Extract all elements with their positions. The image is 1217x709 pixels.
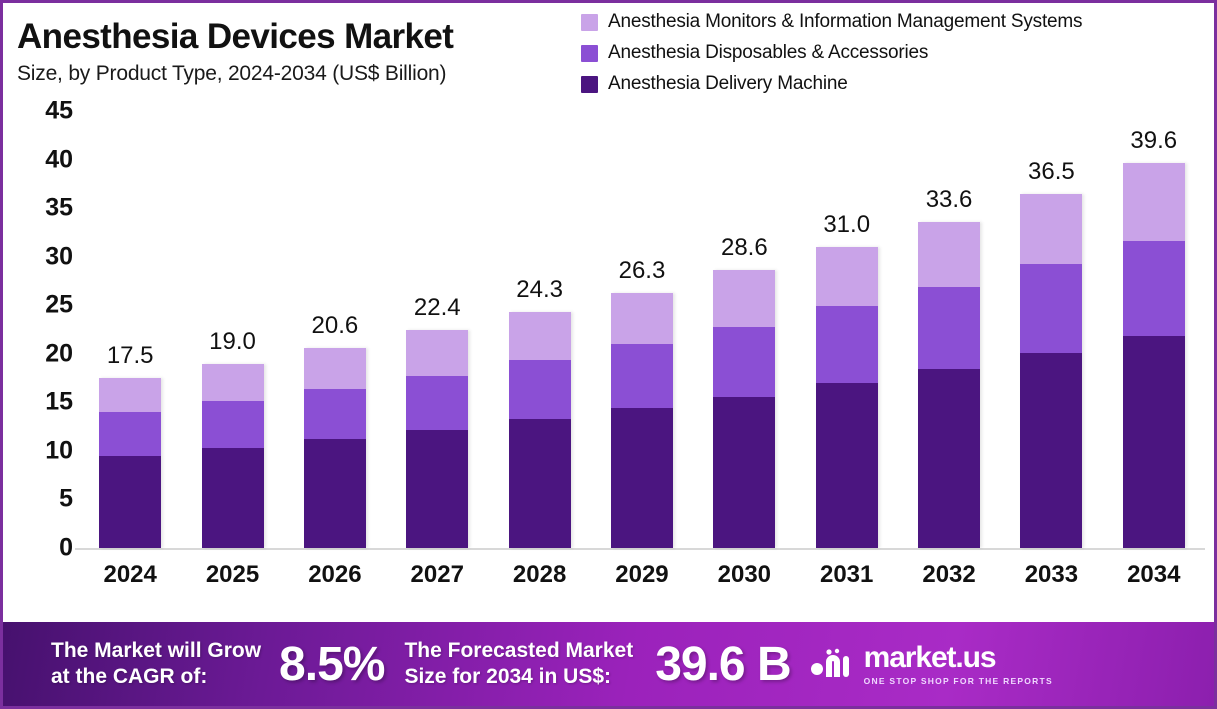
bar-segment[interactable] — [816, 247, 878, 306]
infographic-container: Anesthesia Devices Market Size, by Produ… — [0, 0, 1217, 709]
bar-segment[interactable] — [406, 376, 468, 429]
legend-item-label: Anesthesia Monitors & Information Manage… — [608, 11, 1082, 33]
footer-banner: The Market will Grow at the CAGR of: 8.5… — [3, 622, 1214, 706]
bar-series-container: 17.519.020.622.424.326.328.631.033.636.5… — [79, 111, 1205, 548]
bar-segment[interactable] — [509, 312, 571, 360]
bar-segment[interactable] — [304, 439, 366, 548]
legend-swatch-icon — [581, 45, 598, 62]
x-axis-tick-label: 2033 — [1020, 561, 1082, 589]
bar-segment[interactable] — [202, 448, 264, 548]
brand-tagline: ONE STOP SHOP FOR THE REPORTS — [864, 676, 1053, 686]
plot-area: 454035302520151050 17.519.020.622.424.32… — [3, 111, 1217, 606]
bar-group[interactable]: 28.6 — [713, 111, 775, 548]
x-axis-tick-label: 2032 — [918, 561, 980, 589]
cagr-caption: The Market will Grow at the CAGR of: — [51, 638, 261, 689]
bar-segment[interactable] — [1020, 353, 1082, 548]
bar-segment[interactable] — [816, 306, 878, 383]
y-axis-tick-label: 0 — [21, 534, 73, 563]
x-axis-tick-label: 2026 — [304, 561, 366, 589]
y-axis-tick-label: 5 — [21, 485, 73, 514]
chart-subtitle: Size, by Product Type, 2024-2034 (US$ Bi… — [17, 62, 453, 86]
bar-segment[interactable] — [202, 401, 264, 448]
chart-legend: Anesthesia Monitors & Information Manage… — [581, 11, 1082, 95]
title-block: Anesthesia Devices Market Size, by Produ… — [17, 17, 453, 86]
bar-group[interactable]: 20.6 — [304, 111, 366, 548]
y-axis-tick-label: 25 — [21, 291, 73, 320]
bar-stack[interactable] — [816, 247, 878, 548]
bar-segment[interactable] — [1123, 241, 1185, 336]
bar-stack[interactable] — [1123, 163, 1185, 548]
bar-stack[interactable] — [304, 348, 366, 548]
bar-stack[interactable] — [509, 312, 571, 548]
bar-segment[interactable] — [509, 419, 571, 548]
bar-segment[interactable] — [918, 369, 980, 548]
bar-segment[interactable] — [99, 412, 161, 456]
bar-group[interactable]: 39.6 — [1123, 111, 1185, 548]
bar-segment[interactable] — [1020, 194, 1082, 265]
bar-segment[interactable] — [611, 344, 673, 408]
y-axis-tick-label: 40 — [21, 145, 73, 174]
bar-total-label: 39.6 — [1130, 127, 1177, 155]
bar-group[interactable]: 24.3 — [509, 111, 571, 548]
bar-segment[interactable] — [713, 397, 775, 548]
bar-segment[interactable] — [406, 430, 468, 548]
brand-name: market.us — [864, 643, 1053, 673]
brand-text-block: market.us ONE STOP SHOP FOR THE REPORTS — [864, 643, 1053, 686]
forecast-size-caption: The Forecasted Market Size for 2034 in U… — [404, 638, 633, 689]
x-axis-tick-label: 2030 — [713, 561, 775, 589]
y-axis-tick-label: 20 — [21, 339, 73, 368]
bar-segment[interactable] — [816, 383, 878, 548]
x-axis-tick-label: 2031 — [816, 561, 878, 589]
bar-group[interactable]: 22.4 — [406, 111, 468, 548]
bar-total-label: 33.6 — [926, 186, 973, 214]
y-axis: 454035302520151050 — [21, 111, 73, 551]
bar-segment[interactable] — [99, 456, 161, 548]
x-axis: 2024202520262027202820292030203120322033… — [79, 553, 1205, 597]
bar-stack[interactable] — [611, 293, 673, 548]
legend-item-label: Anesthesia Disposables & Accessories — [608, 42, 928, 64]
bar-segment[interactable] — [1020, 264, 1082, 352]
bar-group[interactable]: 19.0 — [202, 111, 264, 548]
bar-segment[interactable] — [406, 330, 468, 376]
bar-segment[interactable] — [918, 222, 980, 287]
y-axis-tick-label: 35 — [21, 194, 73, 223]
legend-swatch-icon — [581, 14, 598, 31]
bar-stack[interactable] — [713, 270, 775, 548]
y-axis-tick-label: 30 — [21, 242, 73, 271]
bar-segment[interactable] — [202, 364, 264, 402]
bar-stack[interactable] — [1020, 194, 1082, 548]
legend-item[interactable]: Anesthesia Monitors & Information Manage… — [581, 11, 1082, 33]
legend-item[interactable]: Anesthesia Disposables & Accessories — [581, 42, 1082, 64]
bar-stack[interactable] — [202, 364, 264, 549]
legend-item-label: Anesthesia Delivery Machine — [608, 73, 848, 95]
x-axis-tick-label: 2028 — [509, 561, 571, 589]
y-axis-tick-label: 45 — [21, 97, 73, 126]
x-axis-baseline — [75, 548, 1205, 550]
bar-group[interactable]: 33.6 — [918, 111, 980, 548]
bar-segment[interactable] — [918, 287, 980, 370]
bar-total-label: 36.5 — [1028, 158, 1075, 186]
forecast-size-value: 39.6 B — [655, 637, 790, 692]
bar-segment[interactable] — [713, 327, 775, 397]
bar-stack[interactable] — [918, 222, 980, 548]
x-axis-tick-label: 2027 — [406, 561, 468, 589]
bar-segment[interactable] — [304, 348, 366, 389]
x-axis-tick-label: 2034 — [1123, 561, 1185, 589]
bar-total-label: 24.3 — [516, 276, 563, 304]
bar-total-label: 20.6 — [312, 312, 359, 340]
bar-segment[interactable] — [713, 270, 775, 326]
bar-segment[interactable] — [1123, 163, 1185, 241]
bar-group[interactable]: 17.5 — [99, 111, 161, 548]
bar-stack[interactable] — [99, 378, 161, 548]
bar-group[interactable]: 36.5 — [1020, 111, 1082, 548]
bar-total-label: 22.4 — [414, 294, 461, 322]
bar-segment[interactable] — [611, 408, 673, 548]
bar-group[interactable]: 26.3 — [611, 111, 673, 548]
x-axis-tick-label: 2024 — [99, 561, 161, 589]
bar-total-label: 28.6 — [721, 234, 768, 262]
y-axis-tick-label: 10 — [21, 436, 73, 465]
bar-total-label: 31.0 — [823, 211, 870, 239]
bar-total-label: 19.0 — [209, 328, 256, 356]
bar-segment[interactable] — [611, 293, 673, 344]
bar-total-label: 17.5 — [107, 342, 154, 370]
legend-item[interactable]: Anesthesia Delivery Machine — [581, 73, 1082, 95]
bar-segment[interactable] — [1123, 336, 1185, 548]
bar-segment[interactable] — [99, 378, 161, 412]
page-title: Anesthesia Devices Market — [17, 17, 453, 56]
legend-swatch-icon — [581, 76, 598, 93]
bar-segment[interactable] — [509, 360, 571, 419]
bar-group[interactable]: 31.0 — [816, 111, 878, 548]
bar-stack[interactable] — [406, 330, 468, 548]
chart-header: Anesthesia Devices Market Size, by Produ… — [3, 3, 1217, 113]
y-axis-tick-label: 15 — [21, 388, 73, 417]
market-us-logo-icon — [809, 647, 855, 681]
brand-logo[interactable]: market.us ONE STOP SHOP FOR THE REPORTS — [809, 643, 1053, 686]
bar-total-label: 26.3 — [619, 257, 666, 285]
cagr-value: 8.5% — [279, 637, 384, 692]
bar-segment[interactable] — [304, 389, 366, 439]
x-axis-tick-label: 2029 — [611, 561, 673, 589]
x-axis-tick-label: 2025 — [202, 561, 264, 589]
